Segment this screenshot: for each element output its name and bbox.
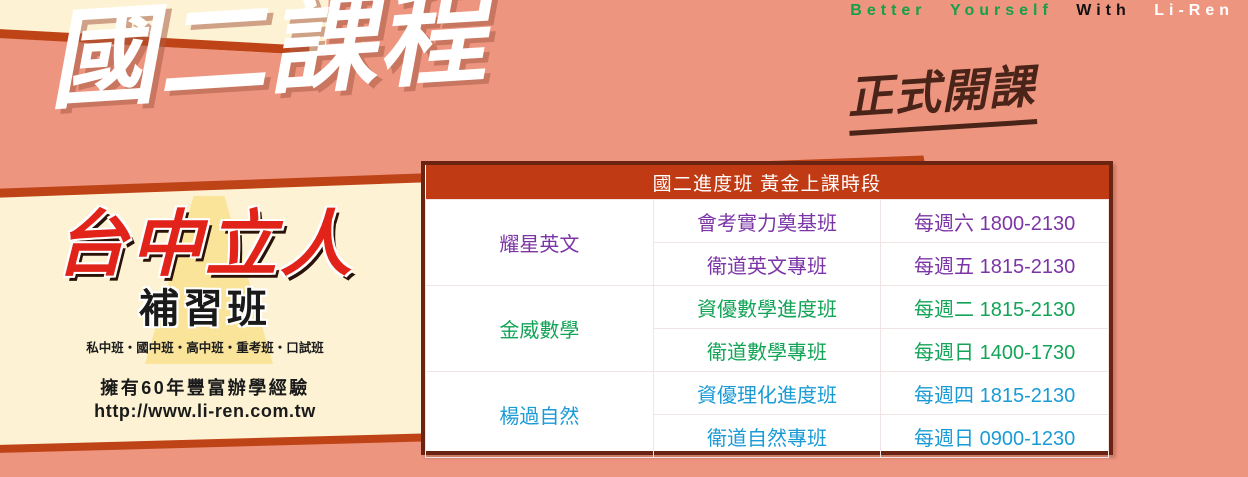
tagline-word-4: Li-Ren (1154, 2, 1234, 19)
subject-cell-math: 金威數學 (426, 286, 654, 372)
subject-cell-science: 楊過自然 (426, 372, 654, 458)
logo-website-url[interactable]: http://www.li-ren.com.tw (40, 401, 370, 422)
course-cell: 衛道自然專班 (653, 415, 881, 458)
table-row: 耀星英文 會考實力奠基班 每週六 1800-2130 (426, 200, 1109, 243)
course-cell: 衛道數學專班 (653, 329, 881, 372)
table-row: 楊過自然 資優理化進度班 每週四 1815-2130 (426, 372, 1109, 415)
promo-banner: Better Yourself With Li-Ren 國二課程 正式開課 台中… (0, 0, 1248, 477)
time-cell: 每週日 1400-1730 (881, 329, 1109, 372)
schedule-table: 國二進度班 黃金上課時段 耀星英文 會考實力奠基班 每週六 1800-2130 … (425, 165, 1109, 458)
course-cell: 資優數學進度班 (653, 286, 881, 329)
english-tagline: Better Yourself With Li-Ren (850, 2, 1234, 20)
time-cell: 每週四 1815-2130 (881, 372, 1109, 415)
schedule-table-container: 國二進度班 黃金上課時段 耀星英文 會考實力奠基班 每週六 1800-2130 … (421, 161, 1113, 455)
banner-sub-title: 正式開課 (845, 50, 1037, 136)
table-row: 金威數學 資優數學進度班 每週二 1815-2130 (426, 286, 1109, 329)
logo-experience-text: 擁有60年豐富辦學經驗 (40, 374, 370, 400)
time-cell: 每週六 1800-2130 (881, 200, 1109, 243)
course-cell: 衛道英文專班 (653, 243, 881, 286)
banner-main-title: 國二課程 (44, 0, 490, 119)
time-cell: 每週五 1815-2130 (881, 243, 1109, 286)
schedule-header-row: 國二進度班 黃金上課時段 (426, 165, 1109, 200)
logo-school-name: 台中立人 (40, 190, 370, 280)
time-cell: 每週日 0900-1230 (881, 415, 1109, 458)
schedule-header-title: 國二進度班 黃金上課時段 (426, 165, 1109, 200)
time-cell: 每週二 1815-2130 (881, 286, 1109, 329)
logo-class-types: 私中班・國中班・高中班・重考班・口試班 (40, 337, 370, 356)
tagline-word-2: Yourself (950, 2, 1053, 19)
subject-cell-english: 耀星英文 (426, 200, 654, 286)
tagline-word-3: With (1076, 2, 1131, 19)
course-cell: 會考實力奠基班 (653, 200, 881, 243)
tagline-word-1: Better (850, 2, 926, 19)
school-logo-block: 台中立人 補習班 私中班・國中班・高中班・重考班・口試班 擁有60年豐富辦學經驗… (40, 190, 370, 422)
course-cell: 資優理化進度班 (653, 372, 881, 415)
logo-school-type: 補習班 (40, 276, 370, 334)
